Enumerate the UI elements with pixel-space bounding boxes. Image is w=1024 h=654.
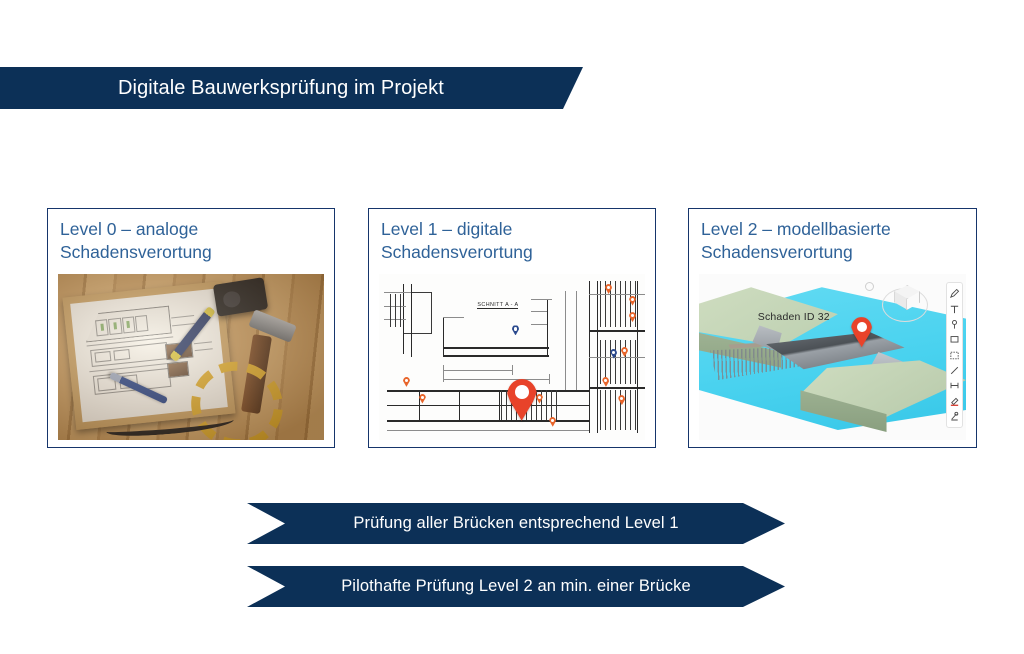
page-title: Digitale Bauwerksprüfung im Projekt [118, 77, 444, 100]
selected-damage-pin[interactable] [851, 317, 872, 347]
selected-damage-pin[interactable] [507, 379, 537, 421]
cad-section-label: SCHNITT A - A [477, 302, 518, 309]
clipboard [62, 281, 235, 430]
black-cable [105, 412, 234, 437]
rectangle-icon[interactable] [949, 334, 960, 345]
camera [213, 277, 268, 316]
pen-icon[interactable] [949, 288, 960, 299]
damage-pin[interactable] [602, 377, 609, 387]
process-banner-level-2-label: Pilothafte Prüfung Level 2 an min. einer… [341, 577, 691, 596]
process-banner-level-1: Prüfung aller Brücken entsprechend Level… [247, 503, 785, 544]
cad-drawing-with-damage-pins: SCHNITT A - A [379, 274, 645, 440]
text-icon[interactable] [949, 304, 960, 315]
markup-toolbar[interactable] [946, 282, 963, 428]
home-view-icon[interactable] [865, 282, 874, 291]
dimension-icon[interactable] [949, 380, 960, 391]
yellow-rope [181, 351, 294, 440]
bim-3d-viewer-with-damage-pin[interactable]: Schaden ID 32 [699, 274, 966, 440]
cloud-markup-icon[interactable] [949, 350, 960, 361]
hammer-handle [241, 334, 272, 414]
damage-pin[interactable] [549, 417, 556, 427]
card-level-1: Level 1 – digitale Schadensverortung SCH… [368, 208, 656, 448]
damage-id-label: Schaden ID 32 [758, 311, 830, 323]
pin-icon[interactable] [949, 319, 960, 330]
card-level-0-media [58, 274, 324, 440]
card-level-1-heading: Level 1 – digitale Schadensverortung [369, 209, 655, 265]
card-level-0-heading: Level 0 – analoge Schadensverortung [48, 209, 334, 265]
printed-plan-sheet [70, 289, 227, 422]
damage-pin[interactable] [403, 377, 410, 387]
card-level-0: Level 0 – analoge Schadensverortung [47, 208, 335, 448]
process-banner-level-2: Pilothafte Prüfung Level 2 an min. einer… [247, 566, 785, 607]
slide-title-banner: Digitale Bauwerksprüfung im Projekt [0, 67, 583, 109]
blue-marker-pen [170, 306, 216, 362]
eraser-icon[interactable] [949, 411, 960, 422]
process-banner-level-1-label: Prüfung aller Brücken entsprechend Level… [353, 514, 678, 533]
card-level-2-heading: Level 2 – modellbasierte Schadensverortu… [689, 209, 976, 265]
line-icon[interactable] [949, 365, 960, 376]
card-level-2: Level 2 – modellbasierte Schadensverortu… [688, 208, 977, 448]
photo-clipboard-with-plans-and-tools [58, 274, 324, 440]
damage-pin[interactable] [512, 325, 519, 335]
damage-pin[interactable] [419, 394, 426, 404]
view-cube[interactable] [881, 282, 931, 324]
hammer-head [248, 309, 297, 343]
highlighter-icon[interactable] [949, 396, 960, 407]
blue-pen [109, 372, 168, 405]
card-level-1-media: SCHNITT A - A [379, 274, 645, 440]
card-level-2-media: Schaden ID 32 [699, 274, 966, 440]
